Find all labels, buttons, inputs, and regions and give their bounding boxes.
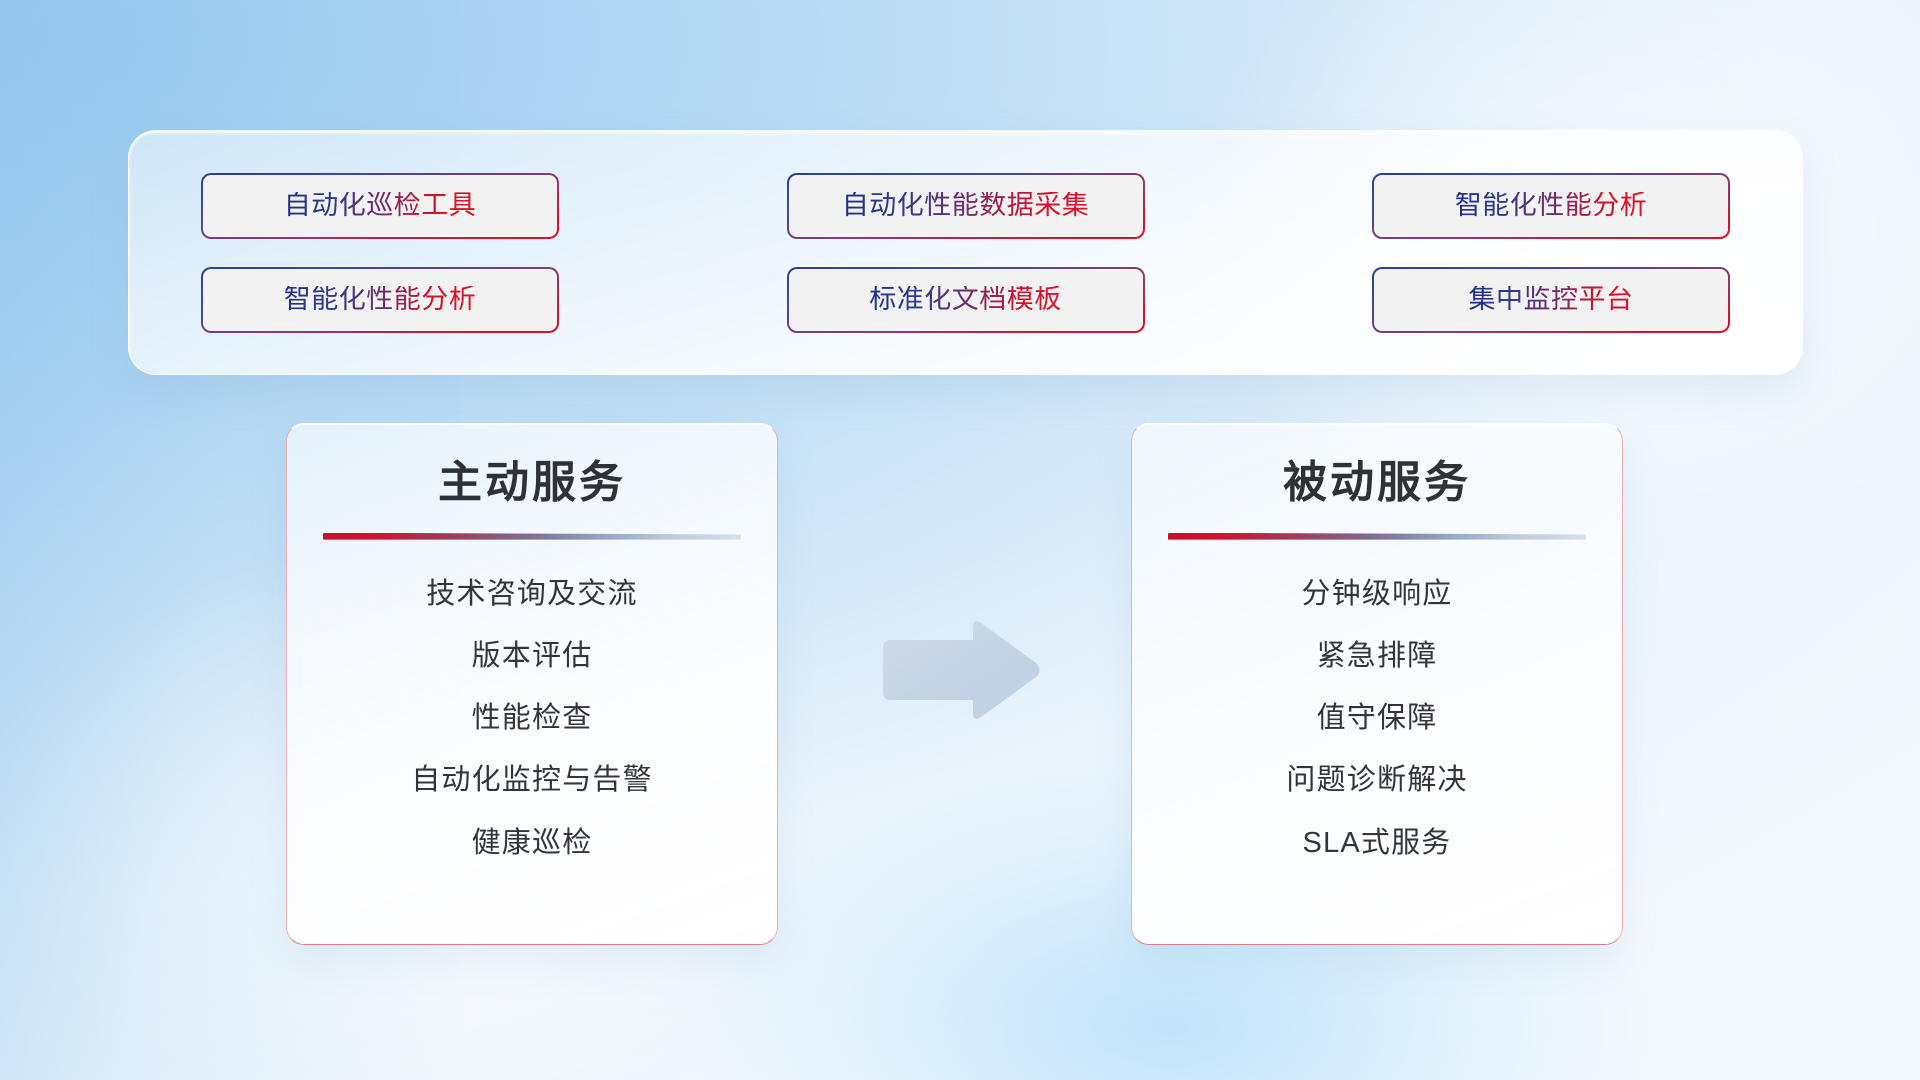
card-title: 主动服务 (438, 458, 626, 509)
tool-pill-automation-perf-collection[interactable]: 自动化性能数据采集 (787, 173, 1145, 239)
list-item: 版本评估 (472, 638, 593, 674)
arrow-right-icon (875, 618, 1043, 723)
tool-pill-central-monitoring-platform[interactable]: 集中监控平台 (1372, 267, 1730, 333)
list-item: 分钟级响应 (1301, 576, 1452, 612)
tool-pill-label: 标准化文档模板 (869, 286, 1062, 313)
list-item: 健康巡检 (472, 825, 593, 861)
card-divider-gradient (1168, 533, 1586, 540)
tool-pill-standard-doc-template[interactable]: 标准化文档模板 (787, 267, 1145, 333)
list-item: SLA式服务 (1302, 825, 1451, 861)
list-item: 问题诊断解决 (1286, 762, 1467, 798)
tool-pill-label: 智能化性能分析 (284, 286, 477, 313)
tools-row-2: 智能化性能分析 标准化文档模板 集中监控平台 (201, 267, 1730, 333)
card-divider-gradient (323, 533, 741, 540)
service-card-proactive[interactable]: 主动服务 技术咨询及交流 版本评估 性能检查 自动化监控与告警 健康巡检 (286, 423, 778, 945)
list-item: 值守保障 (1317, 700, 1438, 736)
tool-pill-label: 自动化巡检工具 (284, 192, 477, 219)
card-title: 被动服务 (1283, 458, 1471, 509)
card-item-list: 技术咨询及交流 版本评估 性能检查 自动化监控与告警 健康巡检 (327, 576, 737, 861)
tool-pill-label: 自动化性能数据采集 (842, 192, 1090, 219)
tool-pill-label: 集中监控平台 (1469, 286, 1634, 313)
tool-pill-label: 智能化性能分析 (1455, 192, 1648, 219)
diagram-stage: 自动化巡检工具 自动化性能数据采集 智能化性能分析 智能化性能分析 标准化文档模… (0, 0, 1920, 1080)
tools-panel: 自动化巡检工具 自动化性能数据采集 智能化性能分析 智能化性能分析 标准化文档模… (128, 130, 1803, 375)
card-item-list: 分钟级响应 紧急排障 值守保障 问题诊断解决 SLA式服务 (1172, 576, 1582, 861)
tool-pill-intelligent-perf-analysis-2[interactable]: 智能化性能分析 (201, 267, 559, 333)
service-card-reactive[interactable]: 被动服务 分钟级响应 紧急排障 值守保障 问题诊断解决 SLA式服务 (1131, 423, 1623, 945)
list-item: 紧急排障 (1317, 638, 1438, 674)
tools-row-1: 自动化巡检工具 自动化性能数据采集 智能化性能分析 (201, 173, 1730, 239)
list-item: 性能检查 (472, 700, 593, 736)
list-item: 自动化监控与告警 (411, 762, 653, 798)
tool-pill-intelligent-perf-analysis[interactable]: 智能化性能分析 (1372, 173, 1730, 239)
list-item: 技术咨询及交流 (426, 576, 637, 612)
tool-pill-automation-inspection[interactable]: 自动化巡检工具 (201, 173, 559, 239)
